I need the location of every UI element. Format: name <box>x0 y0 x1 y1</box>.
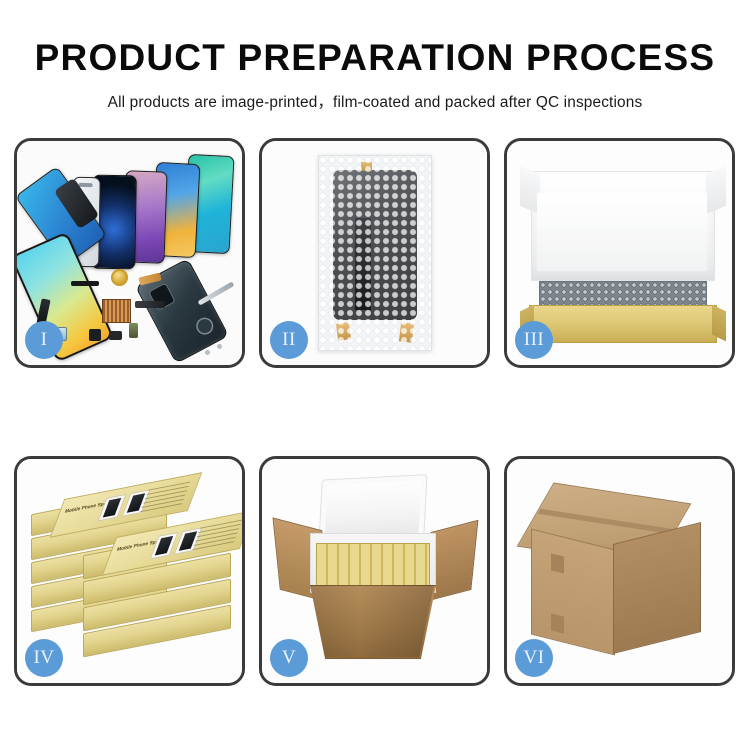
carton-left-face-icon <box>531 529 615 656</box>
step-badge-4: IV <box>25 639 63 677</box>
process-step-panel-4[interactable]: Mobile Phone Spare Parts Mobile Phone Sp… <box>14 456 245 686</box>
page-subtitle: All products are image-printed，film-coat… <box>0 76 750 112</box>
process-step-panel-5[interactable]: V <box>259 456 490 686</box>
process-step-grid: I II III <box>14 138 736 686</box>
process-step-panel-2[interactable]: II <box>259 138 490 368</box>
box-spec-lines-icon <box>140 481 191 513</box>
page-title: PRODUCT PREPARATION PROCESS <box>0 0 750 76</box>
box-window-a-icon <box>150 532 179 560</box>
screw-a-icon <box>217 344 222 349</box>
screw-b-icon <box>205 350 210 355</box>
small-part-f-icon <box>129 323 138 338</box>
kraft-tray-icon <box>529 305 717 343</box>
copper-grid-part-icon <box>102 299 131 323</box>
step-badge-1: I <box>25 321 63 359</box>
page-header: PRODUCT PREPARATION PROCESS All products… <box>0 0 750 112</box>
small-part-e-icon <box>89 329 101 341</box>
bubble-wrap-bag-icon <box>318 155 432 351</box>
bubble-texture-icon <box>319 156 431 350</box>
flex-cable-a-icon <box>71 281 99 286</box>
process-step-panel-6[interactable]: VI <box>504 456 735 686</box>
coil-part-icon <box>111 269 128 286</box>
step-badge-5: V <box>270 639 308 677</box>
carton-right-face-icon <box>613 522 701 654</box>
box-window-a-icon <box>98 494 127 522</box>
step-badge-6: VI <box>515 639 553 677</box>
step-badge-2: II <box>270 321 308 359</box>
box-spec-lines-icon <box>192 519 242 551</box>
box-stack-icon: Mobile Phone Spare Parts Mobile Phone Sp… <box>27 485 237 671</box>
small-part-g-icon <box>109 331 122 340</box>
flex-cable-c-icon <box>135 301 165 308</box>
carton-tape-upper-icon <box>551 553 564 573</box>
packed-yellow-boxes-icon <box>316 543 430 587</box>
process-step-panel-3[interactable]: III <box>504 138 735 368</box>
step-badge-3: III <box>515 321 553 359</box>
carton-body-shading <box>310 585 434 657</box>
carton-tape-lower-icon <box>551 613 564 633</box>
process-step-panel-1[interactable]: I <box>14 138 245 368</box>
foam-sheet-icon <box>537 193 707 271</box>
